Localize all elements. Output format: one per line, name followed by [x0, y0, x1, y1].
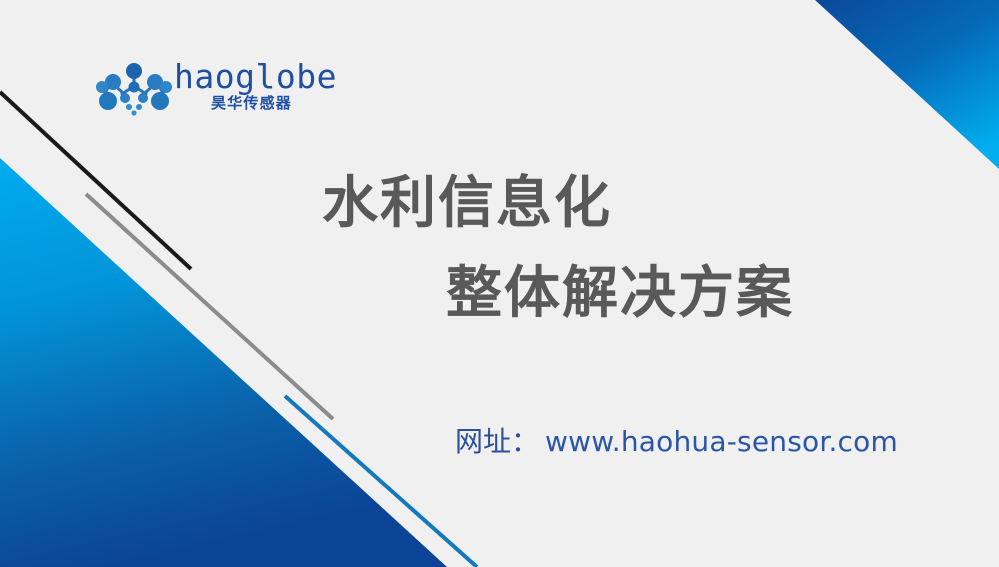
logo-chinese-name: 昊华传感器	[211, 94, 292, 112]
presentation-title-slide: haoglobe 昊华传感器 水利信息化 整体解决方案 网址： www.haoh…	[0, 0, 999, 567]
page-title-line-2: 整体解决方案	[446, 262, 794, 326]
website-url[interactable]: www.haohua-sensor.com	[545, 425, 898, 458]
logo-wordmark: haoglobe	[174, 57, 337, 97]
haoglobe-molecule-mark-icon	[96, 60, 172, 118]
website-label: 网址：	[455, 420, 539, 460]
page-title-line-1: 水利信息化	[322, 172, 612, 236]
logo-text-group: haoglobe 昊华传感器	[174, 57, 324, 121]
website-row: 网址： www.haohua-sensor.com	[455, 420, 898, 460]
company-logo: haoglobe 昊华传感器	[96, 57, 326, 123]
